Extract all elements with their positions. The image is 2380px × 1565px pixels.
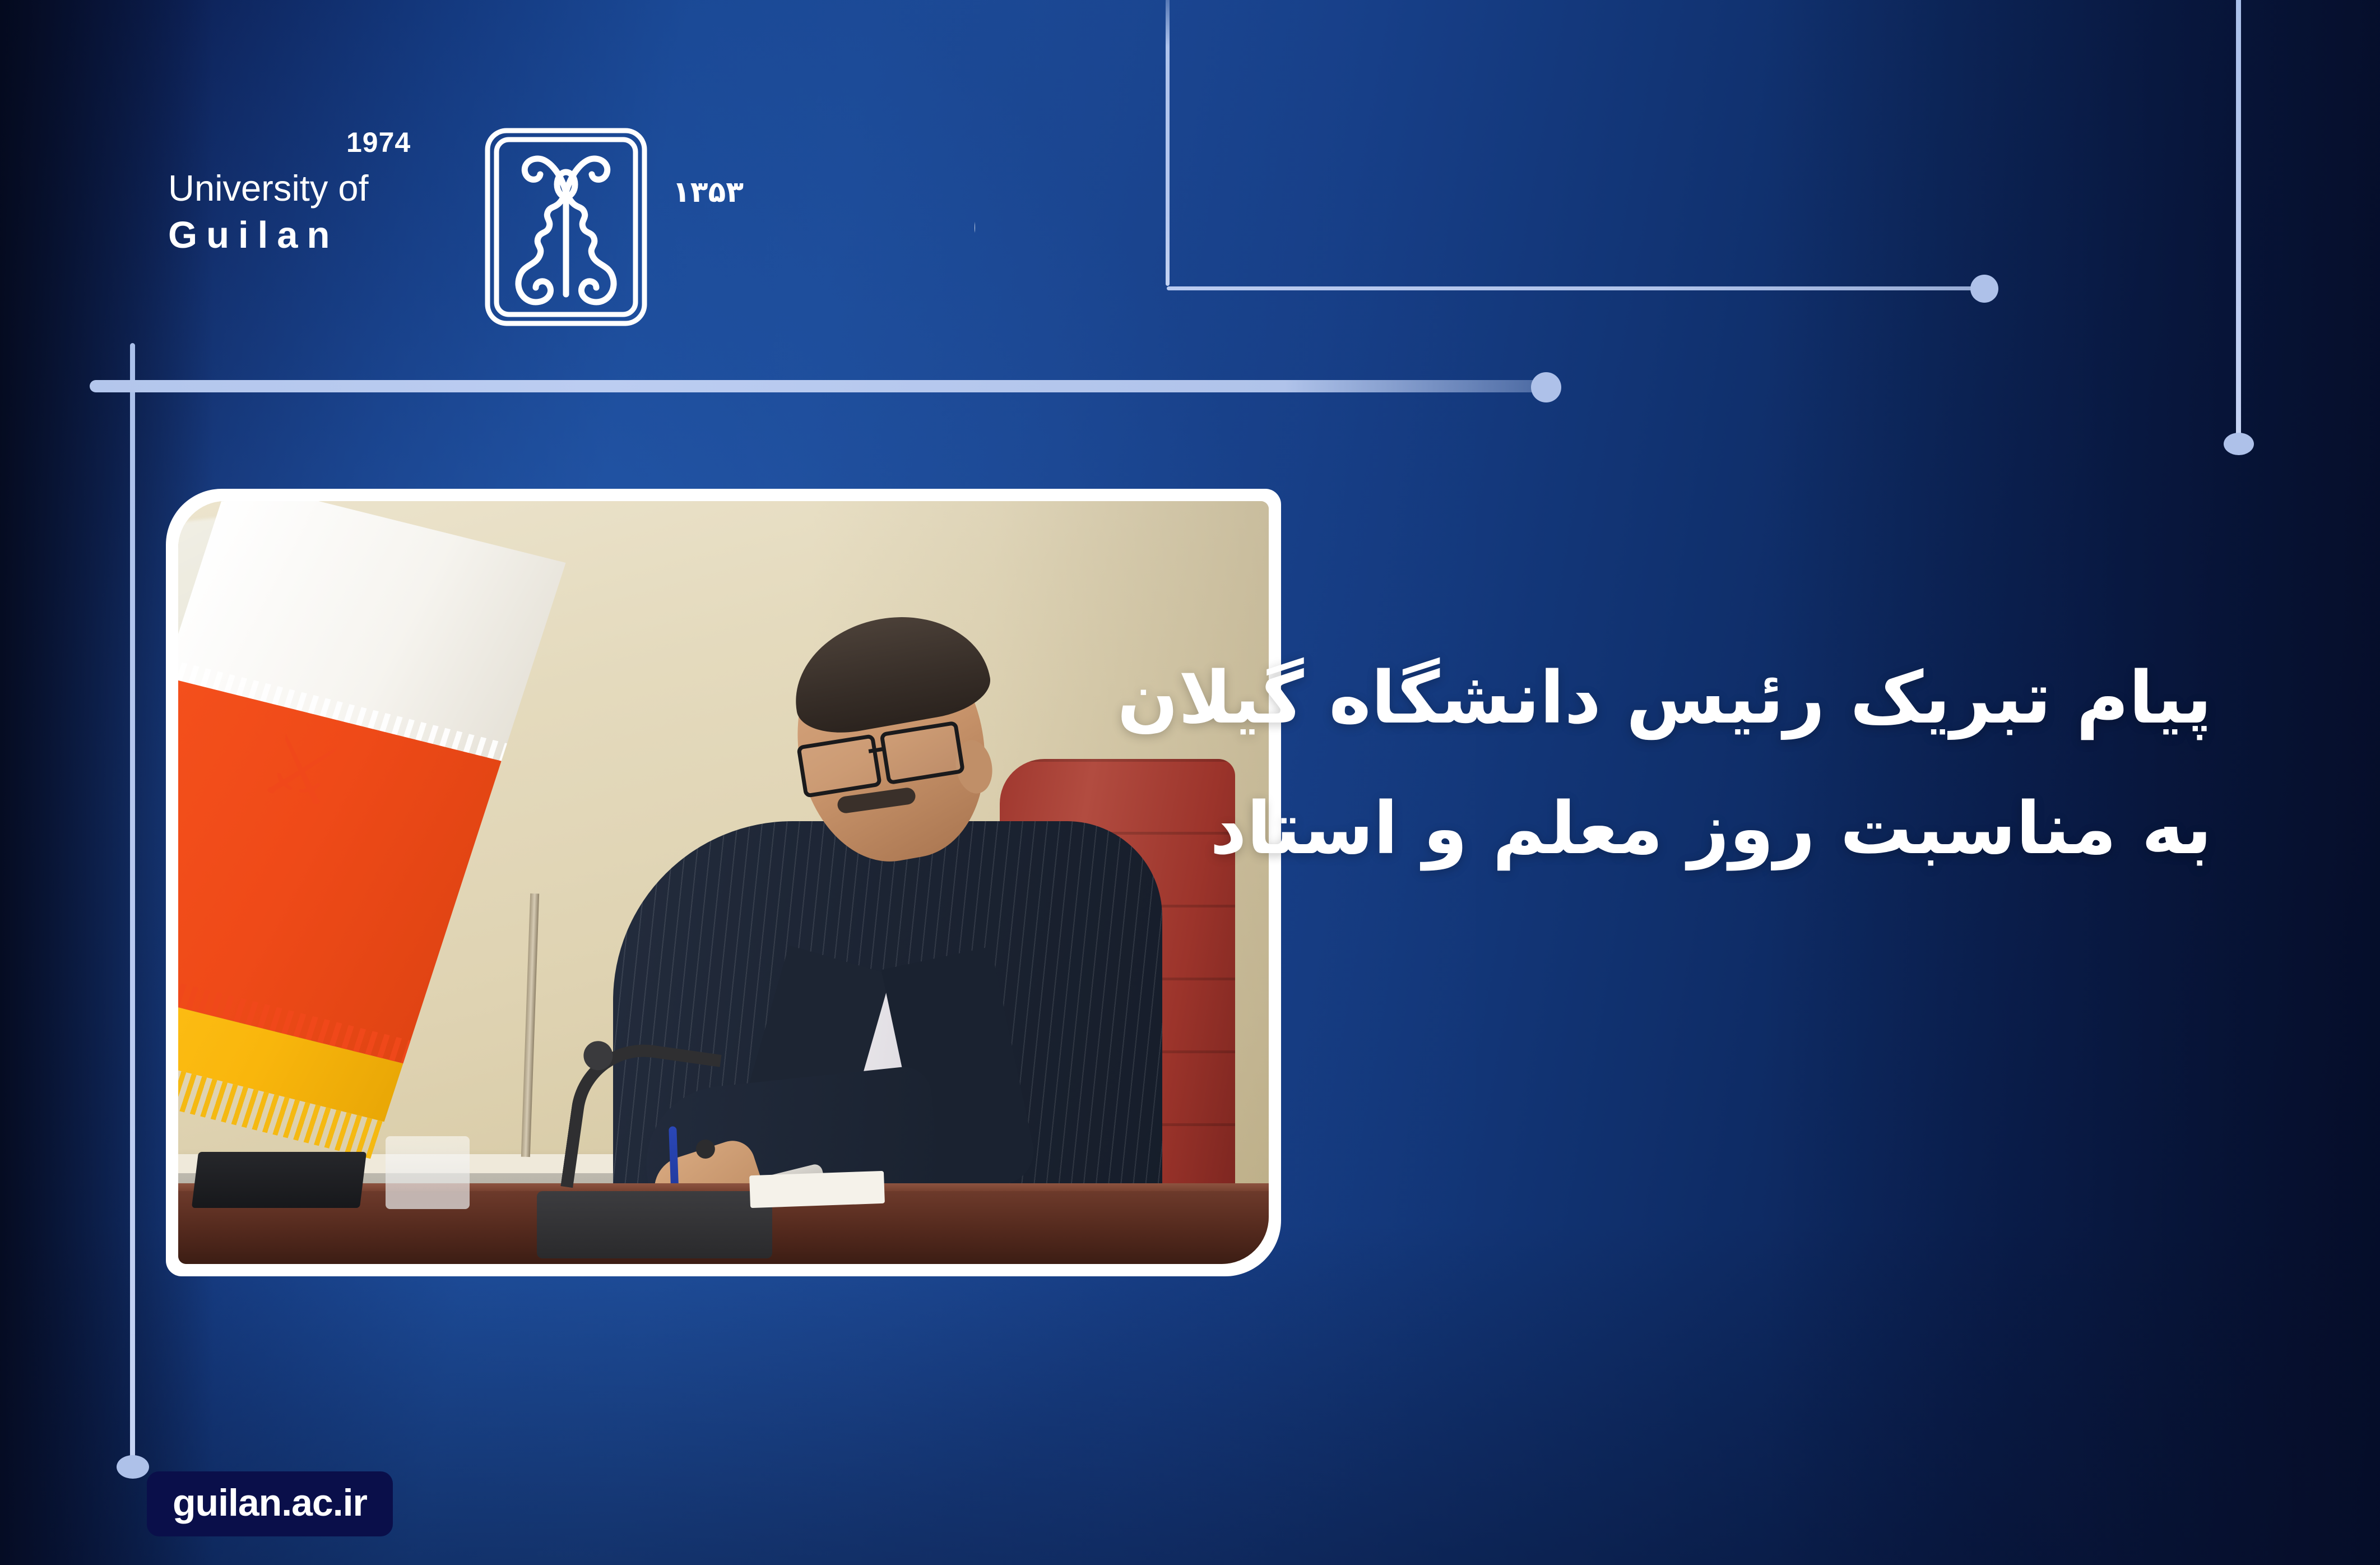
photo-folder [192,1152,366,1208]
logo-english-line2: Guilan [168,216,465,254]
president-photo: ⚔ [178,501,1269,1264]
logo-english-line1: University of [168,170,465,206]
logo-persian-name: دانشگاه گیلان [633,105,975,290]
svg-text:دانشگاه گیلان: دانشگاه گیلان [969,158,975,255]
headline-line-2: به مناسبت روز معلم و استاد [1147,764,2212,895]
photo-glass [386,1136,470,1209]
poster-canvas: 1974 University of Guilan [0,0,2380,1565]
flag-emblem-icon: ⚔ [252,720,356,810]
website-badge[interactable]: guilan.ac.ir [147,1471,393,1536]
logo-english-name: University of Guilan [168,170,465,254]
photo-paper [749,1171,885,1208]
logo-founding-year-latin: 1974 [346,126,411,159]
headline-line-1: پیام تبریک رئیس دانشگاه گیلان [1147,633,2212,764]
university-logo[interactable]: 1974 University of Guilan [168,126,975,345]
photo-microphone-icon [570,1051,699,1197]
headline: پیام تبریک رئیس دانشگاه گیلان به مناسبت … [1147,633,2212,895]
guilan-emblem-icon [482,126,650,328]
photo-microphone-base [537,1191,772,1258]
president-photo-card[interactable]: ⚔ [166,489,1281,1276]
microphone-gooseneck [560,1035,721,1206]
